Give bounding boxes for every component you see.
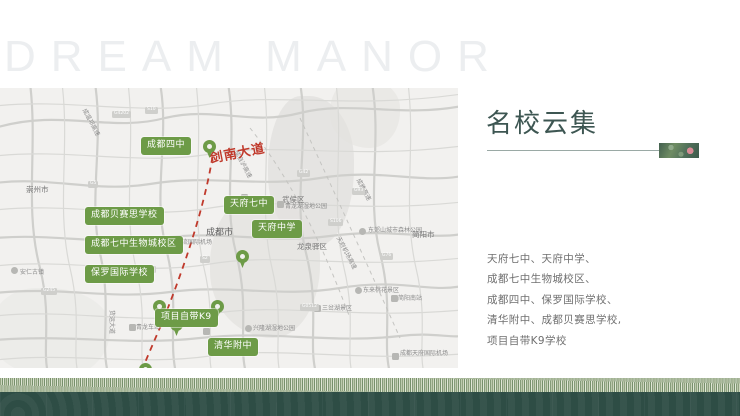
- poi-icon: [359, 228, 366, 235]
- poi-icon: [355, 287, 362, 294]
- school-pill-tianfu-zhongxue[interactable]: 天府中学: [252, 220, 302, 238]
- map-label-taohua-scenic: 东来桃花景区: [363, 288, 399, 295]
- school-pill-basis[interactable]: 成都贝赛思学校: [85, 207, 164, 225]
- school-list-line: 项目自带K9学校: [487, 331, 727, 351]
- poi-icon: [203, 328, 210, 335]
- poi-icon: [391, 295, 398, 302]
- map-label-xinglonghu-park: 兴隆湖湿地公园: [253, 326, 295, 333]
- map-label-chongzhou: 崇州市: [26, 186, 49, 195]
- school-pill-qinghua-fuzhong[interactable]: 清华附中: [208, 338, 258, 356]
- school-list-text: 天府七中、天府中学、 成都七中生物城校区、 成都四中、保罗国际学校、 清华附中、…: [487, 249, 727, 351]
- floral-decoration-icon: [659, 143, 699, 158]
- map-label-forest-park: 东郊山城市森林公园: [368, 228, 422, 235]
- highway-shield: G5: [88, 181, 98, 188]
- map-pin[interactable]: [139, 363, 152, 368]
- map-label-chengdu: 成都市: [206, 228, 233, 238]
- decorative-fringe: [0, 378, 740, 392]
- map-pin[interactable]: [236, 250, 249, 268]
- highway-shield: G76: [380, 253, 393, 260]
- highway-shield: G0512: [300, 304, 319, 311]
- pin-dot: [240, 254, 245, 259]
- map-pin[interactable]: [203, 140, 216, 158]
- school-pill-baoluo-intl[interactable]: 保罗国际学校: [85, 265, 154, 283]
- poi-icon: [245, 325, 252, 332]
- school-pill-chengdu-si-zhong[interactable]: 成都四中: [141, 137, 191, 155]
- poi-icon: [11, 267, 18, 274]
- school-pill-qizhong-biocity[interactable]: 成都七中生物城校区: [85, 236, 183, 254]
- highway-shield: G93: [352, 188, 365, 195]
- pin-tip: [206, 148, 214, 158]
- highway-shield: S2: [200, 256, 210, 263]
- title-divider: [487, 150, 660, 151]
- highway-shield: S106: [328, 219, 343, 226]
- footer-pattern: [0, 392, 740, 416]
- watermark-headline: DREAM MANOR: [0, 28, 564, 86]
- map-label-qinglonghu-park: 青龙湖湿地公园: [285, 204, 327, 211]
- pin-dot: [207, 144, 212, 149]
- decorative-footer-band: [0, 392, 740, 416]
- map-label-freight-avenue: 货运大道: [107, 310, 114, 334]
- pin-dot: [143, 367, 148, 368]
- highway-shield: G42: [297, 170, 310, 177]
- map-panel[interactable]: 崇州市 安仁古镇 成都市 武侯区 龙泉驿区 简阳市 青龙湖湿地公园 东安湖公园 …: [0, 88, 458, 368]
- map-label-tianfu-airport: 成都天府国际机场: [400, 351, 448, 358]
- school-list-line: 成都七中生物城校区、: [487, 269, 727, 289]
- school-list-line: 清华附中、成都贝赛思学校,: [487, 310, 727, 330]
- map-label-anrenguzhen: 安仁古镇: [20, 270, 44, 277]
- poi-icon: [277, 201, 284, 208]
- school-list-line: 天府七中、天府中学、: [487, 249, 727, 269]
- poi-icon: [392, 353, 399, 360]
- school-list-line: 成都四中、保罗国际学校、: [487, 290, 727, 310]
- pin-tip: [239, 258, 247, 268]
- school-pill-k9[interactable]: 项目自带K9: [155, 309, 218, 327]
- poi-icon: [129, 324, 136, 331]
- map-label-jianyang-south-station: 简阳南站: [398, 296, 422, 303]
- highway-shield: G4202: [112, 111, 131, 118]
- highway-shield: G245: [41, 288, 57, 295]
- page-title: 名校云集: [486, 103, 598, 140]
- pin-tip: [173, 326, 181, 336]
- highway-shield: S10: [145, 107, 158, 114]
- map-label-sanchahu-scenic: 三岔湖景区: [322, 306, 352, 313]
- map-label-longquanyi: 龙泉驿区: [297, 243, 327, 252]
- school-pill-tianfu-qizhong[interactable]: 天府七中: [224, 196, 274, 214]
